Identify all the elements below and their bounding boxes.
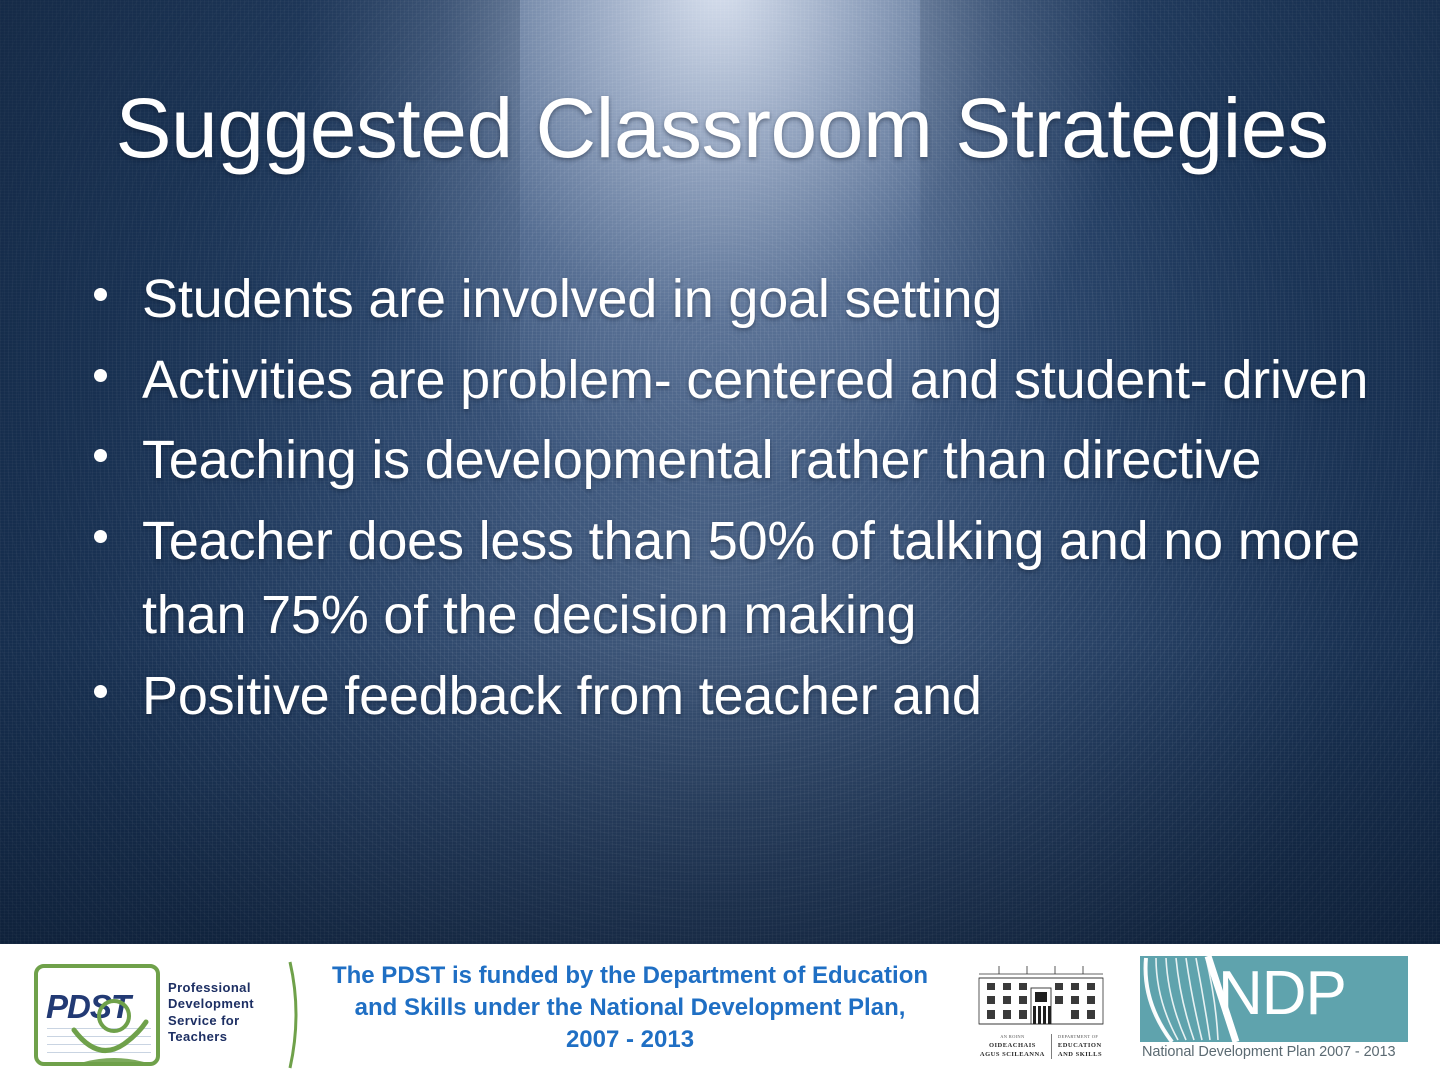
ndp-logo: NDP National Development Plan 2007 - 201…	[1140, 956, 1408, 1068]
list-item: Teaching is developmental rather than di…	[82, 423, 1412, 498]
government-building-icon	[977, 962, 1105, 1032]
bullet-dot-icon	[94, 530, 107, 543]
crest-caption: AN ROINN OIDEACHAIS AGUS SCILEANNA DEPAR…	[963, 1034, 1119, 1059]
department-of-education-crest: AN ROINN OIDEACHAIS AGUS SCILEANNA DEPAR…	[963, 962, 1119, 1066]
list-item-text: Teacher does less than 50% of talking an…	[142, 511, 1360, 646]
list-item-text: Activities are problem- centered and stu…	[142, 350, 1368, 410]
crest-caption-irish: AN ROINN OIDEACHAIS AGUS SCILEANNA	[980, 1034, 1045, 1059]
list-item-text: Teaching is developmental rather than di…	[142, 430, 1261, 490]
pdst-logo: PDST Professional Development Service fo…	[28, 958, 306, 1070]
ndp-acronym: NDP	[1218, 960, 1346, 1028]
bullet-dot-icon	[94, 449, 107, 462]
slide-background: Suggested Classroom Strategies Students …	[0, 0, 1440, 944]
crest-caption-english: DEPARTMENT OF EDUCATION AND SKILLS	[1051, 1034, 1102, 1059]
bullet-dot-icon	[94, 288, 107, 301]
list-item: Students are involved in goal setting	[82, 262, 1412, 337]
bullet-dot-icon	[94, 369, 107, 382]
ndp-logo-box: NDP	[1140, 956, 1408, 1042]
list-item-text: Students are involved in goal setting	[142, 269, 1002, 329]
page-title: Suggested Classroom Strategies	[72, 86, 1372, 170]
bullet-list: Students are involved in goal setting Ac…	[82, 262, 1412, 739]
bullet-dot-icon	[94, 685, 107, 698]
list-item: Positive feedback from teacher and	[82, 659, 1412, 734]
list-item-text: Positive feedback from teacher and	[142, 666, 982, 726]
funding-statement: The PDST is funded by the Department of …	[330, 960, 930, 1056]
list-item: Activities are problem- centered and stu…	[82, 343, 1412, 418]
ndp-caption: National Development Plan 2007 - 2013	[1142, 1044, 1408, 1060]
presentation-slide: Suggested Classroom Strategies Students …	[0, 0, 1440, 1080]
list-item: Teacher does less than 50% of talking an…	[82, 504, 1412, 653]
pdst-tagline: Professional Development Service for Tea…	[168, 980, 286, 1046]
slide-footer: PDST Professional Development Service fo…	[0, 944, 1440, 1080]
